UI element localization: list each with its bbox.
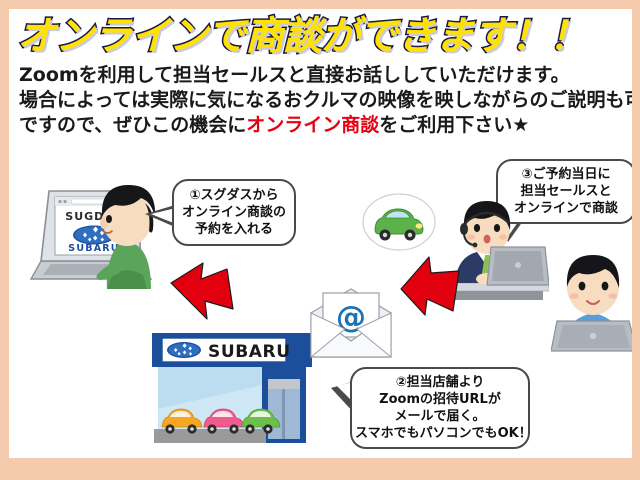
body-line-3-after: をご利用下さい★ — [379, 114, 529, 136]
callout-step-2-line-4: スマホでもパソコンでもOK！ — [355, 425, 525, 442]
callout-step-2-line-1: ②担当店舗より — [355, 374, 525, 391]
body-line-3: ですので、ぜひこの機会にオンライン商談をご利用下さい★ — [19, 113, 632, 138]
callout-step-1: ①スグダスから オンライン商談の 予約を入れる — [172, 179, 296, 246]
poster-frame: オンラインで商談ができます！！ Zoomを利用して担当セールスと直接お話ししてい… — [0, 0, 640, 480]
poster-canvas: オンラインで商談ができます！！ Zoomを利用して担当セールスと直接お話ししてい… — [9, 9, 632, 458]
illustration-customer-at-laptop: SUGDAS SUBARU — [27, 169, 157, 289]
illustration-customer-right — [551, 247, 632, 353]
body-line-3-before: ですので、ぜひこの機会に — [19, 114, 246, 136]
body-line-3-highlight: オンライン商談 — [246, 114, 379, 136]
arrow-step-1-to-2-icon — [169, 261, 241, 323]
arrow-step-2-to-3-icon — [397, 255, 467, 317]
svg-text:SUBARU: SUBARU — [68, 243, 119, 254]
callout-step-2-line-3: メールで届く。 — [355, 408, 525, 425]
illustration-car-video-window — [361, 191, 437, 253]
illustration-email-envelope: @ — [305, 287, 397, 359]
callout-step-1-line-3: 予約を入れる — [178, 221, 290, 238]
body-copy: Zoomを利用して担当セールスと直接お話ししていただけます。 場合によっては実際… — [19, 63, 632, 138]
callout-step-2: ②担当店舗より Zoomの招待URLが メールで届く。 スマホでもパソコンでもO… — [350, 367, 530, 449]
body-line-2: 場合によっては実際に気になるおクルマの映像を映しながらのご説明も可能 — [19, 88, 632, 113]
body-line-1: Zoomを利用して担当セールスと直接お話ししていただけます。 — [19, 63, 632, 88]
callout-step-1-line-1: ①スグダスから — [178, 187, 290, 204]
illustration-dealership: SUBARU — [148, 327, 316, 458]
page-title: オンラインで商談ができます！！ — [17, 15, 627, 59]
callout-step-2-line-2: Zoomの招待URLが — [355, 391, 525, 408]
callout-step-3-line-1: ③ご予約当日に — [501, 166, 631, 183]
callout-step-1-line-2: オンライン商談の — [178, 204, 290, 221]
svg-text:SUBARU: SUBARU — [208, 342, 291, 362]
